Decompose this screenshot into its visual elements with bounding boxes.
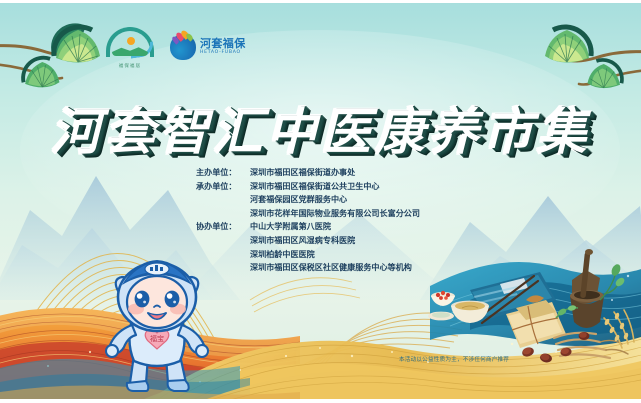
tea-bowl-icon: [451, 301, 489, 323]
logo-fubao-street-caption: 福保福居: [104, 63, 156, 69]
credit-row: 深圳市福田区风湿病专科医院: [196, 234, 420, 248]
ginseng-roots-icon: [554, 333, 628, 358]
credit-row: 协办单位： 中山大学附属第八医院: [196, 220, 420, 234]
credit-row: 深圳市花样年国际物业服务有限公司长富分公司: [196, 207, 420, 221]
logo-hetao-fubao-en: HETAO-FUBAO: [200, 51, 246, 56]
credit-value: 深圳市福田区风湿病专科医院: [250, 234, 420, 248]
mascot-emblem-text: 福宝: [150, 334, 164, 343]
credit-row: 河套福保园区党群服务中心: [196, 193, 420, 207]
poster-canvas: 福保福居 河套福保 HETAO-FUBAO 河套智汇中医康养市集 主办单位： 深…: [0, 0, 641, 403]
book-tablet-icon: [470, 272, 556, 320]
jujube-dates-icon: [521, 332, 589, 364]
credit-label: 承办单位：: [196, 180, 250, 194]
credit-row: 深圳市福田区保税区社区健康服务中心等机构: [196, 261, 420, 275]
sun-icon: [127, 37, 135, 45]
credit-row: 主办单位： 深圳市福田区福保街道办事处: [196, 166, 420, 180]
small-plate-icon: [428, 312, 454, 321]
poster-title: 河套智汇中医康养市集: [0, 92, 641, 164]
credit-value: 深圳市福田区福保街道办事处: [250, 166, 420, 180]
credit-value: 深圳柏龄中医医院: [250, 248, 420, 262]
credit-label-spacer: [196, 234, 250, 248]
credit-row: 深圳柏龄中医医院: [196, 248, 420, 262]
credit-label-spacer: [196, 207, 250, 221]
flower-droplet-icon: [170, 34, 196, 60]
credit-label: 协办单位：: [196, 220, 250, 234]
credit-value: 深圳市花样年国际物业服务有限公司长富分公司: [250, 207, 420, 221]
leaf-sprig-icon: [556, 305, 578, 318]
credit-value: 中山大学附属第八医院: [250, 220, 420, 234]
disclaimer-text: 本活动以公益性质为主，不涉任何商户推荐: [399, 355, 509, 363]
logo-hetao-fubao-cn: 河套福保: [200, 38, 246, 49]
credit-row: 承办单位： 深圳市福田区福保街道公共卫生中心: [196, 180, 420, 194]
wheat-sheaf-icon: [604, 310, 634, 348]
page-top-edge: [0, 0, 641, 3]
fubao-mascot: 福宝: [96, 247, 218, 395]
logo-bar: 福保福居 河套福保 HETAO-FUBAO: [104, 24, 254, 70]
logo-fubao-street: 福保福居: [104, 25, 156, 69]
credit-value: 深圳市福田区福保街道公共卫生中心: [250, 180, 420, 194]
credits-block: 主办单位： 深圳市福田区福保街道办事处 承办单位： 深圳市福田区福保街道公共卫生…: [196, 166, 420, 275]
credit-value: 深圳市福田区保税区社区健康服务中心等机构: [250, 261, 420, 275]
goji-berries-icon: [431, 291, 455, 306]
chopsticks-icon: [478, 276, 538, 323]
credit-value: 河套福保园区党群服务中心: [250, 193, 420, 207]
page-bottom-edge: [0, 399, 641, 403]
credit-label-spacer: [196, 193, 250, 207]
credit-label: 主办单位：: [196, 166, 250, 180]
herb-parcel-icon: [506, 295, 566, 348]
mortar-and-pestle-icon: [570, 249, 626, 328]
logo-hetao-fubao: 河套福保 HETAO-FUBAO: [170, 32, 246, 62]
